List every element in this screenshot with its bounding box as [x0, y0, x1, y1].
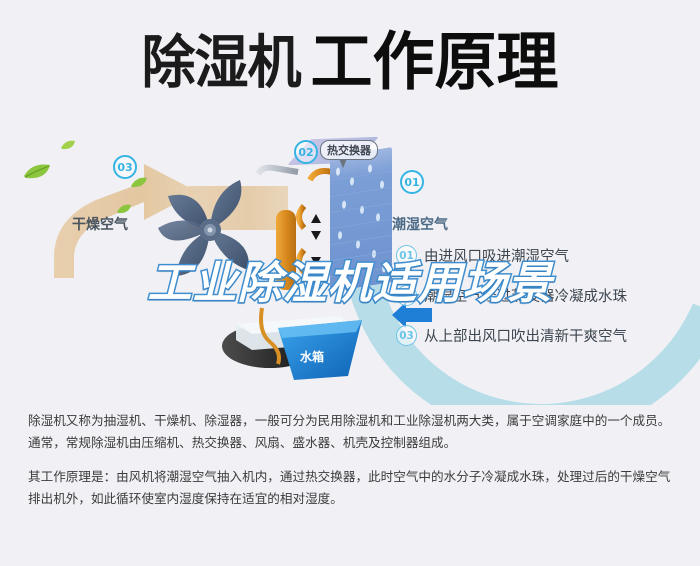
heat-exchanger-callout: 热交换器: [320, 140, 378, 160]
paragraph-1: 除湿机又称为抽湿机、干燥机、除湿器，一般可分为民用除湿机和工业除湿机两大类，属于…: [28, 410, 676, 454]
evaporator-fins: [330, 147, 392, 292]
step-text: 潮湿空气经过蒸发器冷凝成水珠: [424, 285, 627, 306]
water-tank-label: 水箱: [300, 348, 324, 365]
diagram-badge-01: 01: [400, 170, 424, 194]
page-title: 除湿机 工作原理: [0, 18, 700, 108]
diagram-badge-02: 02: [294, 140, 318, 164]
process-steps-list: 01 由进风口吸进潮湿空气 02 潮湿空气经过蒸发器冷凝成水珠 03 从上部出风…: [396, 245, 696, 365]
leaf-icon: [22, 160, 52, 182]
dry-air-label: 干燥空气: [72, 214, 128, 234]
step-number: 02: [396, 285, 417, 306]
callout-pointer-icon: [340, 160, 347, 168]
leaf-icon: [60, 138, 76, 152]
leaf-icon: [130, 175, 148, 190]
humid-air-label: 潮湿空气: [392, 214, 448, 234]
title-part-1: 除湿机: [141, 34, 300, 91]
list-item: 03 从上部出风口吹出清新干爽空气: [396, 325, 696, 346]
water-tank: [222, 302, 372, 382]
diagram-badge-03: 03: [113, 155, 137, 179]
step-text: 从上部出风口吹出清新干爽空气: [424, 325, 627, 346]
step-number: 01: [396, 245, 417, 266]
description-text: 除湿机又称为抽湿机、干燥机、除湿器，一般可分为民用除湿机和工业除湿机两大类，属于…: [28, 410, 676, 522]
step-number: 03: [396, 325, 417, 346]
list-item: 01 由进风口吸进潮湿空气: [396, 245, 696, 266]
list-item: 02 潮湿空气经过蒸发器冷凝成水珠: [396, 285, 696, 306]
step-text: 由进风口吸进潮湿空气: [424, 245, 569, 266]
title-part-2: 工作原理: [310, 31, 558, 94]
condensation-droplets: [330, 147, 392, 292]
infographic-page: 除湿机 工作原理: [0, 0, 700, 566]
paragraph-2: 其工作原理是：由风机将潮湿空气抽入机内，通过热交换器，此时空气中的水分子冷凝成水…: [28, 466, 676, 510]
